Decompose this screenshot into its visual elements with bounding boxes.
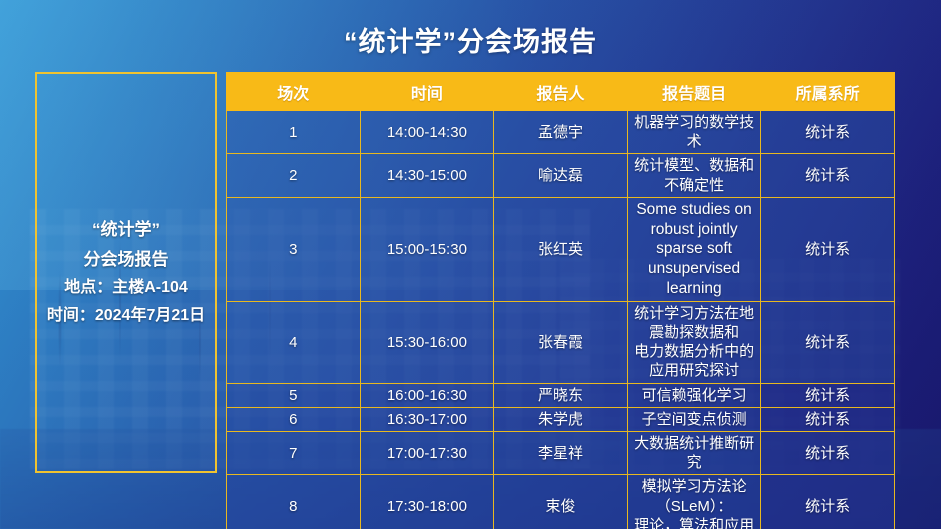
session-info-panel: “统计学” 分会场报告 地点：主楼A-104 时间：2024年7月21日 [35,72,217,473]
cell-session-number: 4 [227,301,361,383]
cell-session-number: 8 [227,475,361,529]
cell-department: 统计系 [761,432,895,475]
cell-session-number: 1 [227,111,361,154]
cell-speaker: 喻达磊 [494,154,628,197]
table-row: 717:00-17:30李星祥大数据统计推断研究统计系 [227,432,895,475]
table-row: 616:30-17:00朱学虎子空间变点侦测统计系 [227,407,895,431]
cell-department: 统计系 [761,111,895,154]
cell-time: 15:30-16:00 [360,301,494,383]
cell-department: 统计系 [761,407,895,431]
topic-line: 机器学习的数学技术 [632,113,757,151]
cell-time: 14:30-15:00 [360,154,494,197]
schedule-table: 场次 时间 报告人 报告题目 所属系所 114:00-14:30孟德宇机器学习的… [226,72,895,529]
topic-line: 子空间变点侦测 [632,410,757,429]
cell-time: 17:30-18:00 [360,475,494,529]
cell-topic: 模拟学习方法论（SLeM）：理论，算法和应用 [627,475,761,529]
info-line-subject: “统计学” [92,216,160,244]
topic-line: sparse soft unsupervised learning [632,239,757,298]
table-header-row: 场次 时间 报告人 报告题目 所属系所 [227,73,895,111]
cell-time: 14:00-14:30 [360,111,494,154]
table-row: 114:00-14:30孟德宇机器学习的数学技术统计系 [227,111,895,154]
table-row: 817:30-18:00束俊模拟学习方法论（SLeM）：理论，算法和应用统计系 [227,475,895,529]
cell-speaker: 李星祥 [494,432,628,475]
cell-time: 16:30-17:00 [360,407,494,431]
presentation-slide: “统计学”分会场报告 “统计学” 分会场报告 地点：主楼A-104 时间：202… [0,0,941,529]
cell-time: 16:00-16:30 [360,383,494,407]
cell-topic: 子空间变点侦测 [627,407,761,431]
info-line-location: 地点：主楼A-104 [64,275,188,301]
cell-speaker: 严晓东 [494,383,628,407]
table-row: 315:00-15:30张红英Some studies on robust jo… [227,197,895,301]
cell-time: 17:00-17:30 [360,432,494,475]
topic-line: 电力数据分析中的应用研究探讨 [632,342,757,380]
column-header-speaker: 报告人 [494,73,628,111]
cell-department: 统计系 [761,301,895,383]
column-header-department: 所属系所 [761,73,895,111]
table-row: 516:00-16:30严晓东可信赖强化学习统计系 [227,383,895,407]
cell-topic: 统计学习方法在地震勘探数据和电力数据分析中的应用研究探讨 [627,301,761,383]
topic-line: 模拟学习方法论（SLeM）： [632,477,757,515]
cell-session-number: 2 [227,154,361,197]
cell-topic: 机器学习的数学技术 [627,111,761,154]
table-header: 场次 时间 报告人 报告题目 所属系所 [227,73,895,111]
table-row: 415:30-16:00张春霞统计学习方法在地震勘探数据和电力数据分析中的应用研… [227,301,895,383]
cell-department: 统计系 [761,383,895,407]
cell-topic: 可信赖强化学习 [627,383,761,407]
info-line-date: 时间：2024年7月21日 [47,303,205,329]
topic-line: 可信赖强化学习 [632,386,757,405]
topic-line: 大数据统计推断研究 [632,434,757,472]
cell-session-number: 3 [227,197,361,301]
schedule-table-container: 场次 时间 报告人 报告题目 所属系所 114:00-14:30孟德宇机器学习的… [226,72,895,473]
column-header-time: 时间 [360,73,494,111]
cell-speaker: 孟德宇 [494,111,628,154]
cell-session-number: 5 [227,383,361,407]
cell-topic: 统计模型、数据和不确定性 [627,154,761,197]
topic-line: 统计学习方法在地震勘探数据和 [632,304,757,342]
cell-speaker: 朱学虎 [494,407,628,431]
cell-department: 统计系 [761,154,895,197]
cell-topic: Some studies on robust jointlysparse sof… [627,197,761,301]
table-body: 114:00-14:30孟德宇机器学习的数学技术统计系214:30-15:00喻… [227,111,895,529]
cell-department: 统计系 [761,475,895,529]
cell-time: 15:00-15:30 [360,197,494,301]
topic-line: 统计模型、数据和不确定性 [632,156,757,194]
column-header-topic: 报告题目 [627,73,761,111]
cell-speaker: 张红英 [494,197,628,301]
page-title: “统计学”分会场报告 [0,20,941,59]
cell-session-number: 6 [227,407,361,431]
cell-session-number: 7 [227,432,361,475]
column-header-session: 场次 [227,73,361,111]
cell-speaker: 张春霞 [494,301,628,383]
topic-line: Some studies on robust jointly [632,200,757,240]
info-line-session: 分会场报告 [84,246,169,274]
table-row: 214:30-15:00喻达磊统计模型、数据和不确定性统计系 [227,154,895,197]
topic-line: 理论，算法和应用 [632,516,757,529]
cell-speaker: 束俊 [494,475,628,529]
cell-topic: 大数据统计推断研究 [627,432,761,475]
cell-department: 统计系 [761,197,895,301]
